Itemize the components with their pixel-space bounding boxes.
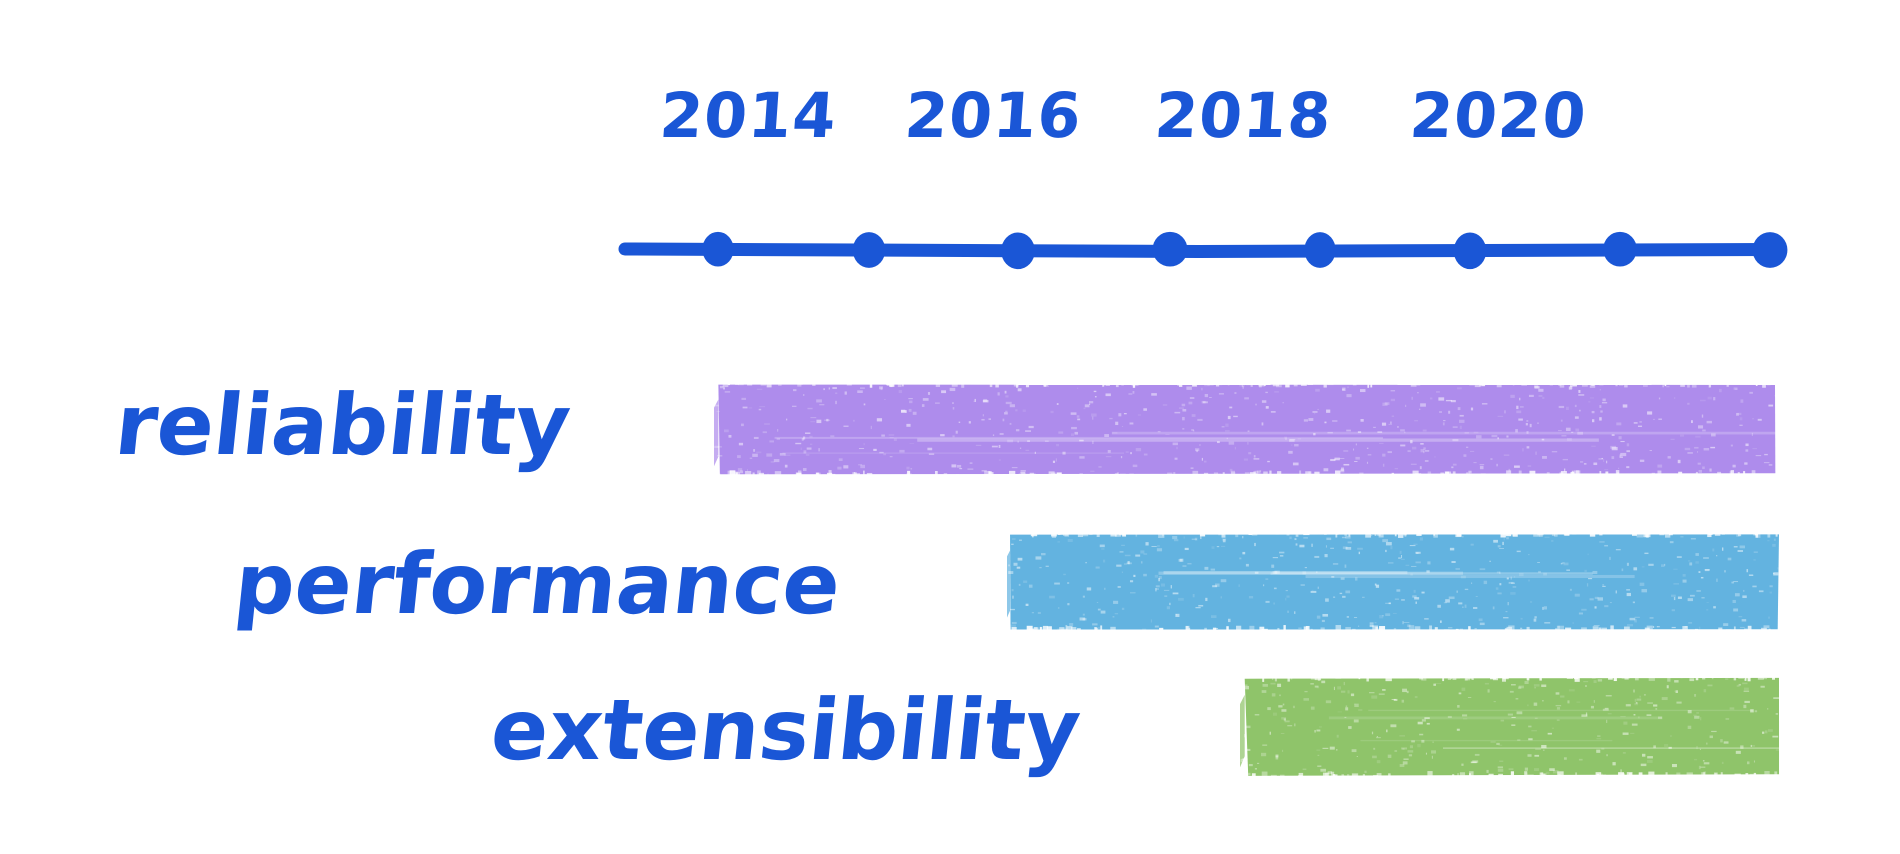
year-label-2020: 2020: [1408, 85, 1587, 147]
year-label-2016: 2016: [903, 85, 1082, 147]
year-label-2018: 2018: [1153, 85, 1332, 147]
timeline-dot-2019[interactable]: [1603, 232, 1637, 267]
timeline-dot-2018[interactable]: [1454, 232, 1486, 269]
timeline-chart-canvas: 2014 2016 2018 2020 reliability performa…: [0, 0, 1900, 854]
timeline-dot-2020[interactable]: [1753, 232, 1788, 268]
row-label-reliability: reliability: [56, 383, 575, 467]
bar-reliability-texture: [714, 383, 1776, 475]
bar-extensibility[interactable]: [1240, 677, 1780, 776]
year-label-2014: 2014: [658, 85, 837, 147]
bar-performance[interactable]: [1007, 533, 1780, 630]
timeline-dot-2014[interactable]: [853, 232, 885, 268]
timeline-dot-2013[interactable]: [702, 232, 733, 267]
bar-extensibility-texture: [1240, 677, 1780, 776]
row-label-performance: performance: [176, 542, 845, 626]
timeline-dot-2015[interactable]: [1001, 232, 1035, 269]
bar-performance-texture: [1007, 533, 1780, 630]
timeline-dot-2017[interactable]: [1304, 232, 1335, 268]
row-label-extensibility: extensibility: [326, 688, 1085, 772]
bar-reliability[interactable]: [714, 383, 1776, 475]
timeline-dot-2016[interactable]: [1153, 232, 1188, 267]
